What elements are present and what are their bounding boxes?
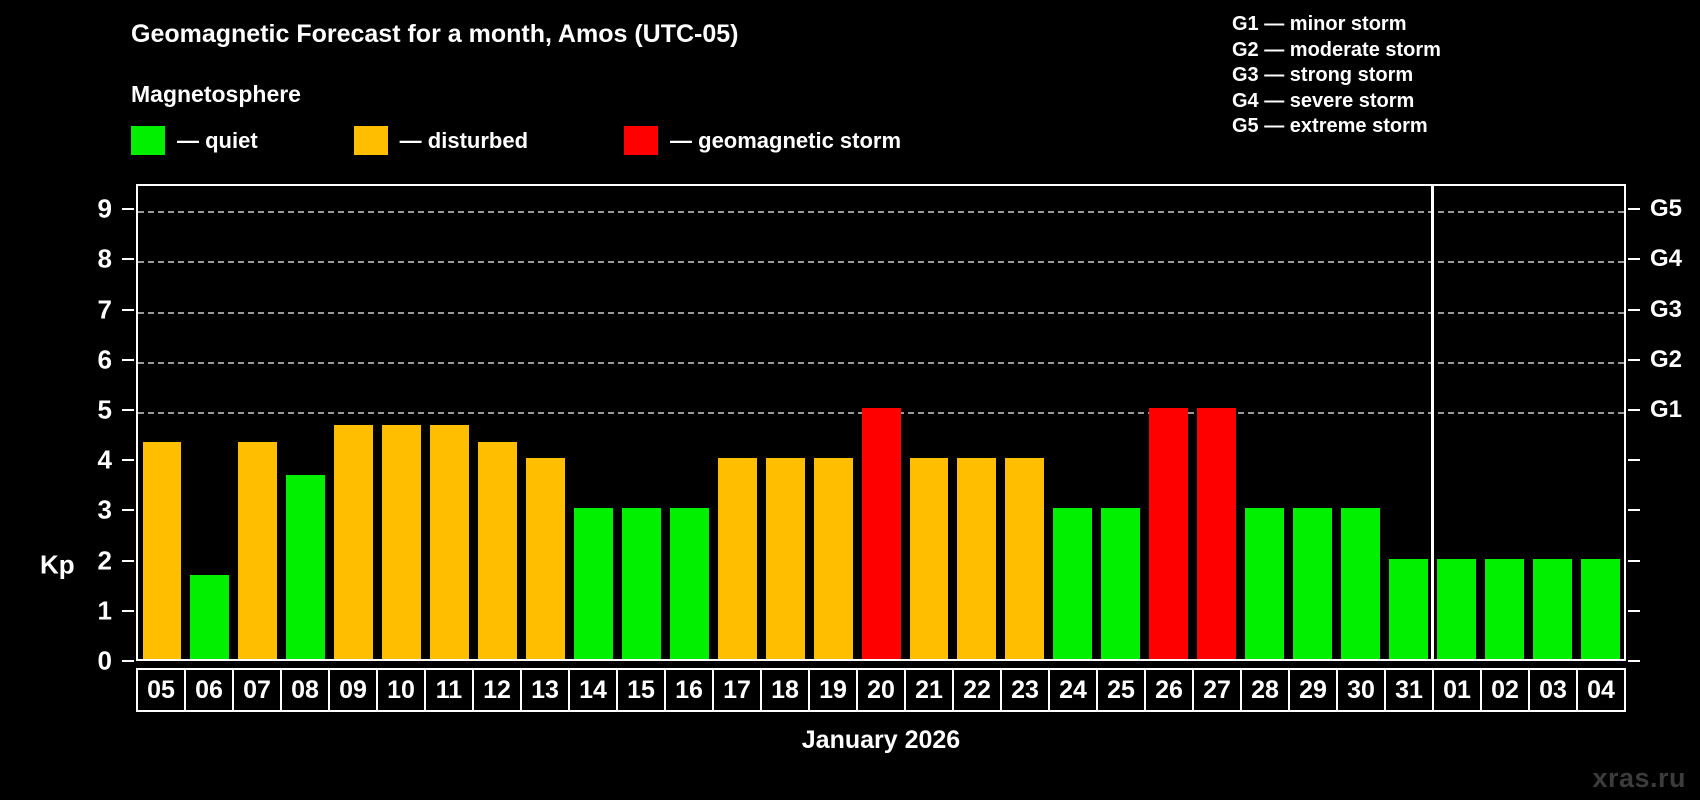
- bar-slot-22[interactable]: [953, 186, 1001, 659]
- bar-20[interactable]: [862, 408, 901, 659]
- day-label-31[interactable]: 31: [1386, 670, 1434, 710]
- g-tick-mark-g2: [1628, 359, 1640, 361]
- bar-slot-06[interactable]: [186, 186, 234, 659]
- bar-slot-26[interactable]: [1145, 186, 1193, 659]
- magnetosphere-legend: — quiet— disturbed— geomagnetic storm: [131, 126, 901, 155]
- day-label-20[interactable]: 20: [858, 670, 906, 710]
- y-tick-mark-0: [122, 660, 134, 662]
- day-label-21[interactable]: 21: [906, 670, 954, 710]
- y-tick-label-6: 6: [52, 344, 112, 375]
- y-tick-label-3: 3: [52, 495, 112, 526]
- day-label-09[interactable]: 09: [330, 670, 378, 710]
- storm-scale-row-g5: G5 — extreme storm: [1232, 114, 1441, 140]
- day-label-16[interactable]: 16: [666, 670, 714, 710]
- bar-15[interactable]: [622, 508, 661, 659]
- day-label-11[interactable]: 11: [426, 670, 474, 710]
- g-tick-label-g4: G4: [1650, 245, 1682, 273]
- bar-slot-23[interactable]: [1001, 186, 1049, 659]
- legend-label-disturbed: — disturbed: [400, 128, 528, 154]
- g-tick-label-g5: G5: [1650, 195, 1682, 223]
- bar-30[interactable]: [1341, 508, 1380, 659]
- y-tick-mark-6: [122, 359, 134, 361]
- bar-slot-16[interactable]: [665, 186, 713, 659]
- day-label-07[interactable]: 07: [234, 670, 282, 710]
- bar-06[interactable]: [190, 575, 229, 659]
- bar-slot-27[interactable]: [1193, 186, 1241, 659]
- bar-19[interactable]: [814, 458, 853, 659]
- g-tick-mark-minor-2: [1628, 560, 1640, 562]
- g-tick-mark-g5: [1628, 208, 1640, 210]
- bar-05[interactable]: [143, 442, 182, 659]
- bar-08[interactable]: [286, 475, 325, 659]
- bar-slot-05[interactable]: [138, 186, 186, 659]
- y-tick-mark-9: [122, 208, 134, 210]
- day-label-26[interactable]: 26: [1146, 670, 1194, 710]
- y-tick-mark-7: [122, 309, 134, 311]
- bar-31[interactable]: [1389, 559, 1428, 659]
- day-label-03[interactable]: 03: [1530, 670, 1578, 710]
- day-label-23[interactable]: 23: [1002, 670, 1050, 710]
- bar-02[interactable]: [1485, 559, 1524, 659]
- day-label-18[interactable]: 18: [762, 670, 810, 710]
- bar-28[interactable]: [1245, 508, 1284, 659]
- bar-18[interactable]: [766, 458, 805, 659]
- bar-10[interactable]: [382, 425, 421, 659]
- x-axis-day-labels: 0506070809101112131415161718192021222324…: [136, 668, 1626, 712]
- day-label-22[interactable]: 22: [954, 670, 1002, 710]
- legend-item-quiet: — quiet: [131, 126, 258, 155]
- watermark: xras.ru: [1592, 763, 1686, 794]
- day-label-10[interactable]: 10: [378, 670, 426, 710]
- bar-slot-29[interactable]: [1289, 186, 1337, 659]
- bar-12[interactable]: [478, 442, 517, 659]
- bar-slot-21[interactable]: [905, 186, 953, 659]
- y-tick-mark-1: [122, 610, 134, 612]
- g-tick-mark-minor-4: [1628, 459, 1640, 461]
- storm-scale-legend: G1 — minor stormG2 — moderate stormG3 — …: [1232, 12, 1441, 140]
- day-label-27[interactable]: 27: [1194, 670, 1242, 710]
- bar-03[interactable]: [1533, 559, 1572, 659]
- g-tick-label-g3: G3: [1650, 296, 1682, 324]
- legend-item-geomagnetic-storm: — geomagnetic storm: [624, 126, 901, 155]
- bar-25[interactable]: [1101, 508, 1140, 659]
- bar-slot-09[interactable]: [330, 186, 378, 659]
- bar-slot-10[interactable]: [378, 186, 426, 659]
- day-label-05[interactable]: 05: [138, 670, 186, 710]
- storm-scale-row-g1: G1 — minor storm: [1232, 12, 1441, 38]
- bar-22[interactable]: [957, 458, 996, 659]
- bar-slot-03[interactable]: [1528, 186, 1576, 659]
- day-label-01[interactable]: 01: [1434, 670, 1482, 710]
- legend-label-geomagnetic-storm: — geomagnetic storm: [670, 128, 901, 154]
- day-label-19[interactable]: 19: [810, 670, 858, 710]
- bar-slot-31[interactable]: [1384, 186, 1432, 659]
- y-tick-label-5: 5: [52, 394, 112, 425]
- bar-07[interactable]: [238, 442, 277, 659]
- bar-slot-30[interactable]: [1336, 186, 1384, 659]
- month-separator-line: [1431, 186, 1434, 659]
- bar-slot-04[interactable]: [1576, 186, 1624, 659]
- bar-slot-28[interactable]: [1241, 186, 1289, 659]
- bar-27[interactable]: [1197, 408, 1236, 659]
- legend-label-quiet: — quiet: [177, 128, 258, 154]
- bar-26[interactable]: [1149, 408, 1188, 659]
- bar-29[interactable]: [1293, 508, 1332, 659]
- plot-inner: [138, 186, 1624, 659]
- storm-scale-row-g2: G2 — moderate storm: [1232, 38, 1441, 64]
- day-label-17[interactable]: 17: [714, 670, 762, 710]
- y-axis-kp: Kp 0123456789: [0, 184, 136, 661]
- y-tick-mark-5: [122, 409, 134, 411]
- bar-slot-17[interactable]: [713, 186, 761, 659]
- legend-item-disturbed: — disturbed: [354, 126, 528, 155]
- bar-slot-14[interactable]: [569, 186, 617, 659]
- plot-area: [136, 184, 1626, 661]
- day-label-24[interactable]: 24: [1050, 670, 1098, 710]
- bar-slot-15[interactable]: [617, 186, 665, 659]
- y-tick-mark-8: [122, 258, 134, 260]
- day-label-04[interactable]: 04: [1578, 670, 1624, 710]
- bar-slot-20[interactable]: [857, 186, 905, 659]
- x-axis-title: January 2026: [136, 726, 1626, 755]
- y-tick-mark-2: [122, 560, 134, 562]
- legend-swatch-quiet: [131, 126, 165, 155]
- g-tick-mark-g4: [1628, 258, 1640, 260]
- y-tick-mark-4: [122, 459, 134, 461]
- bar-slot-13[interactable]: [522, 186, 570, 659]
- bar-slot-19[interactable]: [809, 186, 857, 659]
- day-label-08[interactable]: 08: [282, 670, 330, 710]
- bar-slot-02[interactable]: [1480, 186, 1528, 659]
- g-tick-mark-minor-0: [1628, 660, 1640, 662]
- magnetosphere-label: Magnetosphere: [131, 81, 301, 108]
- bar-01[interactable]: [1437, 559, 1476, 659]
- y-tick-label-0: 0: [52, 646, 112, 677]
- day-label-06[interactable]: 06: [186, 670, 234, 710]
- bar-slot-01[interactable]: [1432, 186, 1480, 659]
- day-label-28[interactable]: 28: [1242, 670, 1290, 710]
- y-tick-label-2: 2: [52, 545, 112, 576]
- bar-09[interactable]: [334, 425, 373, 659]
- legend-swatch-disturbed: [354, 126, 388, 155]
- bar-04[interactable]: [1581, 559, 1620, 659]
- storm-scale-row-g3: G3 — strong storm: [1232, 63, 1441, 89]
- g-tick-label-g1: G1: [1650, 396, 1682, 424]
- bar-14[interactable]: [574, 508, 613, 659]
- day-label-30[interactable]: 30: [1338, 670, 1386, 710]
- y-tick-label-4: 4: [52, 445, 112, 476]
- y-tick-label-9: 9: [52, 194, 112, 225]
- legend-swatch-geomagnetic-storm: [624, 126, 658, 155]
- day-label-02[interactable]: 02: [1482, 670, 1530, 710]
- g-tick-mark-minor-1: [1628, 610, 1640, 612]
- bar-13[interactable]: [526, 458, 565, 659]
- bar-17[interactable]: [718, 458, 757, 659]
- bar-slot-11[interactable]: [426, 186, 474, 659]
- day-label-15[interactable]: 15: [618, 670, 666, 710]
- bar-slot-18[interactable]: [761, 186, 809, 659]
- day-label-25[interactable]: 25: [1098, 670, 1146, 710]
- bar-slot-25[interactable]: [1097, 186, 1145, 659]
- bar-slot-12[interactable]: [474, 186, 522, 659]
- bars-layer: [138, 186, 1624, 659]
- bar-21[interactable]: [910, 458, 949, 659]
- storm-scale-row-g4: G4 — severe storm: [1232, 89, 1441, 115]
- bar-23[interactable]: [1005, 458, 1044, 659]
- y-tick-label-7: 7: [52, 294, 112, 325]
- y-tick-mark-3: [122, 509, 134, 511]
- day-label-12[interactable]: 12: [474, 670, 522, 710]
- bar-11[interactable]: [430, 425, 469, 659]
- bar-slot-07[interactable]: [234, 186, 282, 659]
- bar-24[interactable]: [1053, 508, 1092, 659]
- g-tick-mark-g1: [1628, 409, 1640, 411]
- bar-slot-24[interactable]: [1049, 186, 1097, 659]
- bar-16[interactable]: [670, 508, 709, 659]
- day-label-29[interactable]: 29: [1290, 670, 1338, 710]
- y-axis-gscale: G1G2G3G4G5: [1626, 184, 1700, 661]
- g-tick-mark-g3: [1628, 309, 1640, 311]
- day-label-13[interactable]: 13: [522, 670, 570, 710]
- y-tick-label-8: 8: [52, 244, 112, 275]
- bar-slot-08[interactable]: [282, 186, 330, 659]
- page-title: Geomagnetic Forecast for a month, Amos (…: [131, 20, 739, 49]
- day-label-14[interactable]: 14: [570, 670, 618, 710]
- g-tick-label-g2: G2: [1650, 346, 1682, 374]
- g-tick-mark-minor-3: [1628, 509, 1640, 511]
- y-tick-label-1: 1: [52, 595, 112, 626]
